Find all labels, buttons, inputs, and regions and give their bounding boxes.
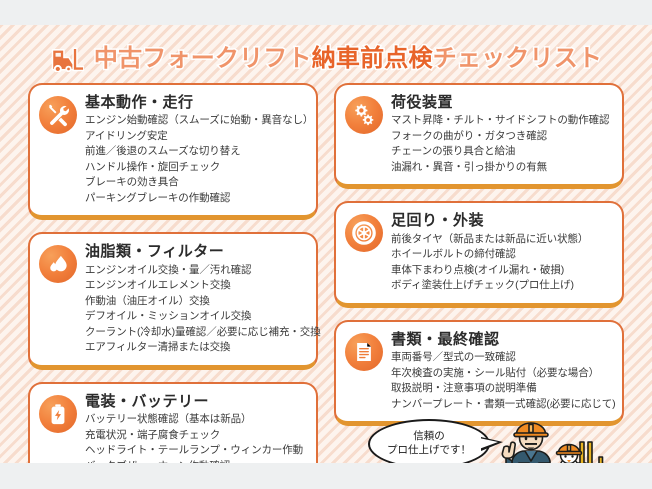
card-title: 油脂類・フィルター: [85, 243, 306, 260]
speech-bubble-line-1: 信頼の: [413, 430, 445, 444]
card-body: 荷役装置 マスト昇降・チルト・サイドシフトの動作確認 フォークの曲がり・ガタつき…: [391, 94, 612, 175]
page-title: 中古フォークリフト納車前点検チェックリスト: [94, 47, 602, 71]
oil-drop-icon: [39, 245, 77, 283]
mascot-area: 信頼の プロ仕上げです！: [368, 417, 636, 463]
card-body: 油脂類・フィルター エンジンオイル交換・量／汚れ確認 エンジンオイルエレメント交…: [85, 243, 306, 355]
list-item: 年次検査の実施・シール貼付（必要な場合）: [391, 366, 612, 382]
card-title: 書類・最終確認: [391, 331, 612, 348]
list-item: エンジンオイル交換・量／汚れ確認: [85, 263, 306, 279]
list-item: 車体下まわり点検(オイル漏れ・破損): [391, 263, 612, 279]
card-electrical-battery[interactable]: 電装・バッテリー バッテリー状態確認（基本は新品） 充電状況・端子腐食チェック …: [28, 382, 318, 463]
list-item: ナンバープレート・書類一式確認(必要に応じて): [391, 397, 612, 413]
card-body: 書類・最終確認 車両番号／型式の一致確認 年次検査の実施・シール貼付（必要な場合…: [391, 331, 612, 412]
card-body: 基本動作・走行 エンジン始動確認（スムーズに始動・異音なし） アイドリング安定 …: [85, 94, 306, 206]
card-oils-filters[interactable]: 油脂類・フィルター エンジンオイル交換・量／汚れ確認 エンジンオイルエレメント交…: [28, 232, 318, 369]
card-title: 電装・バッテリー: [85, 393, 306, 410]
list-item: 前後タイヤ（新品または新品に近い状態）: [391, 232, 612, 248]
list-item: マスト昇降・チルト・サイドシフトの動作確認: [391, 113, 612, 129]
forklift-icon: [50, 46, 84, 72]
list-item: 油漏れ・異音・引っ掛かりの有無: [391, 160, 612, 176]
list-item: フォークの曲がり・ガタつき確認: [391, 129, 612, 145]
list-item: エンジン始動確認（スムーズに始動・異音なし）: [85, 113, 306, 129]
tire-wheel-icon: [345, 214, 383, 252]
speech-bubble-line-2: プロ仕上げです！: [387, 444, 471, 458]
infographic-canvas: 中古フォークリフト納車前点検チェックリスト 基本動作・走行 エンジン始動確認（ス…: [0, 25, 652, 463]
checklist: エンジン始動確認（スムーズに始動・異音なし） アイドリング安定 前進／後退のスム…: [85, 113, 306, 206]
list-item: 充電状況・端子腐食チェック: [85, 428, 306, 444]
list-item: ブレーキの効き具合: [85, 175, 306, 191]
tools-icon: [39, 96, 77, 134]
list-item: チェーンの張り具合と給油: [391, 144, 612, 160]
card-title: 足回り・外装: [391, 212, 612, 229]
checklist: エンジンオイル交換・量／汚れ確認 エンジンオイルエレメント交換 作動油（油圧オイ…: [85, 263, 306, 356]
list-item: バックブザー・ホーン作動確認: [85, 459, 306, 463]
title-segment-suffix: チェックリスト: [433, 45, 602, 72]
list-item: 作動油（油圧オイル）交換: [85, 294, 306, 310]
card-documents-final-check[interactable]: 書類・最終確認 車両番号／型式の一致確認 年次検査の実施・シール貼付（必要な場合…: [334, 320, 624, 426]
card-basic-operation[interactable]: 基本動作・走行 エンジン始動確認（スムーズに始動・異音なし） アイドリング安定 …: [28, 83, 318, 220]
list-item: 車両番号／型式の一致確認: [391, 350, 612, 366]
list-item: バッテリー状態確認（基本は新品）: [85, 412, 306, 428]
list-item: アイドリング安定: [85, 129, 306, 145]
list-item: デフオイル・ミッションオイル交換: [85, 309, 306, 325]
list-item: エアフィルター清掃または交換: [85, 340, 306, 356]
list-item: クーラント(冷却水)量確認／必要に応じ補充・交換: [85, 325, 306, 341]
list-item: ボディ塗装仕上げチェック(プロ仕上げ): [391, 278, 612, 294]
card-undercarriage-exterior[interactable]: 足回り・外装 前後タイヤ（新品または新品に近い状態） ホイールボルトの締付確認 …: [334, 201, 624, 307]
list-item: エンジンオイルエレメント交換: [85, 278, 306, 294]
list-item: パーキングブレーキの作動確認: [85, 191, 306, 207]
list-item: 取扱説明・注意事項の説明準備: [391, 381, 612, 397]
card-title: 荷役装置: [391, 94, 612, 111]
checklist: 車両番号／型式の一致確認 年次検査の実施・シール貼付（必要な場合） 取扱説明・注…: [391, 350, 612, 412]
card-cargo-handling[interactable]: 荷役装置 マスト昇降・チルト・サイドシフトの動作確認 フォークの曲がり・ガタつき…: [334, 83, 624, 189]
checklist: 前後タイヤ（新品または新品に近い状態） ホイールボルトの締付確認 車体下まわり点…: [391, 232, 612, 294]
title-segment-prefix: 中古フォークリフト: [94, 45, 312, 72]
left-column: 基本動作・走行 エンジン始動確認（スムーズに始動・異音なし） アイドリング安定 …: [28, 83, 318, 463]
worker-thumbs-up-icon: [494, 417, 622, 463]
battery-icon: [39, 395, 77, 433]
card-body: 電装・バッテリー バッテリー状態確認（基本は新品） 充電状況・端子腐食チェック …: [85, 393, 306, 463]
checklist: マスト昇降・チルト・サイドシフトの動作確認 フォークの曲がり・ガタつき確認 チェ…: [391, 113, 612, 175]
checklist: バッテリー状態確認（基本は新品） 充電状況・端子腐食チェック ヘッドライト・テー…: [85, 412, 306, 463]
title-segment-emphasis: 納車前点検: [312, 45, 433, 72]
list-item: ホイールボルトの締付確認: [391, 247, 612, 263]
list-item: ヘッドライト・テールランプ・ウィンカー作動: [85, 443, 306, 459]
screenshot-root: 中古フォークリフト納車前点検チェックリスト 基本動作・走行 エンジン始動確認（ス…: [0, 0, 652, 489]
right-column: 荷役装置 マスト昇降・チルト・サイドシフトの動作確認 フォークの曲がり・ガタつき…: [334, 83, 624, 438]
list-item: ハンドル操作・旋回チェック: [85, 160, 306, 176]
card-body: 足回り・外装 前後タイヤ（新品または新品に近い状態） ホイールボルトの締付確認 …: [391, 212, 612, 293]
speech-bubble: 信頼の プロ仕上げです！: [368, 419, 490, 463]
card-title: 基本動作・走行: [85, 94, 306, 111]
document-icon: [345, 333, 383, 371]
list-item: 前進／後退のスムーズな切り替え: [85, 144, 306, 160]
gears-icon: [345, 96, 383, 134]
page-header: 中古フォークリフト納車前点検チェックリスト: [0, 36, 652, 82]
